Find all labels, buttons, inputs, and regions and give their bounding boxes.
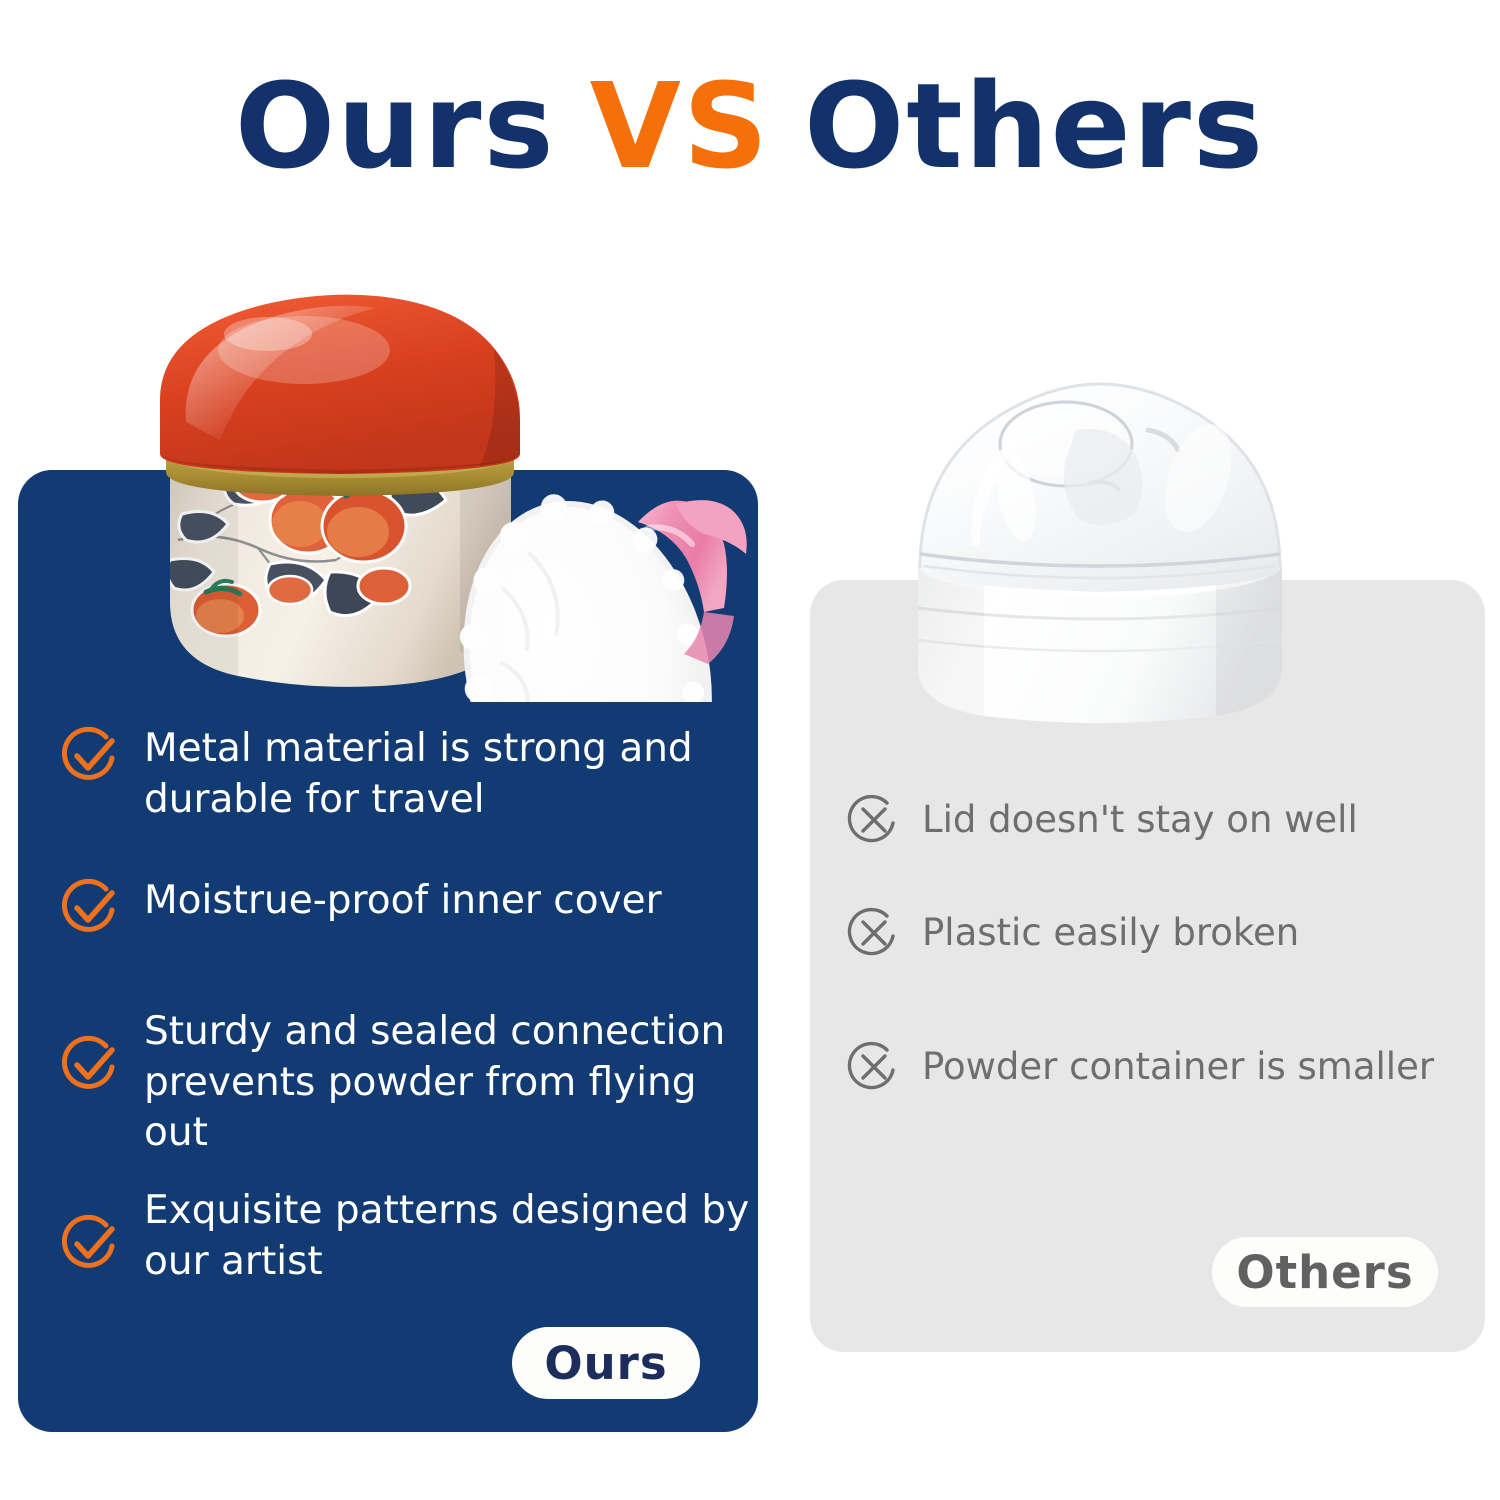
check-circle-icon bbox=[60, 724, 122, 786]
feature-label: Metal material is strong and durable for… bbox=[144, 722, 750, 825]
drawback-row: Lid doesn't stay on well bbox=[846, 792, 1476, 848]
feature-row: Metal material is strong and durable for… bbox=[60, 722, 750, 825]
drawback-label: Plastic easily broken bbox=[922, 910, 1299, 956]
title-word-vs: VS bbox=[590, 57, 770, 195]
feature-row: Exquisite patterns designed by our artis… bbox=[60, 1184, 750, 1287]
drawback-label: Powder container is smaller bbox=[922, 1044, 1434, 1090]
ours-badge-label: Ours bbox=[544, 1337, 667, 1390]
check-circle-icon bbox=[60, 1212, 122, 1274]
ours-badge: Ours bbox=[512, 1327, 700, 1399]
check-circle-icon bbox=[60, 1033, 122, 1095]
x-circle-icon bbox=[846, 1039, 902, 1095]
feature-label: Sturdy and sealed connection prevents po… bbox=[144, 1005, 750, 1159]
feature-row: Moistrue-proof inner cover bbox=[60, 874, 750, 938]
check-circle-icon bbox=[60, 876, 122, 938]
feature-label: Moistrue-proof inner cover bbox=[144, 874, 662, 927]
others-product-image bbox=[880, 368, 1320, 740]
comparison-infographic: OursVSOthers Metal material is strong an… bbox=[0, 0, 1500, 1500]
feature-row: Sturdy and sealed connection prevents po… bbox=[60, 1005, 750, 1159]
page-title: OursVSOthers bbox=[0, 62, 1500, 192]
drawback-row: Powder container is smaller bbox=[846, 1039, 1476, 1095]
title-word-ours: Ours bbox=[235, 57, 556, 195]
ours-product-image bbox=[108, 272, 748, 702]
title-word-others: Others bbox=[804, 57, 1265, 195]
x-circle-icon bbox=[846, 792, 902, 848]
others-badge-label: Others bbox=[1236, 1246, 1413, 1299]
drawback-row: Plastic easily broken bbox=[846, 905, 1476, 961]
feature-label: Exquisite patterns designed by our artis… bbox=[144, 1184, 750, 1287]
others-badge: Others bbox=[1212, 1237, 1438, 1307]
x-circle-icon bbox=[846, 905, 902, 961]
drawback-label: Lid doesn't stay on well bbox=[922, 797, 1358, 843]
